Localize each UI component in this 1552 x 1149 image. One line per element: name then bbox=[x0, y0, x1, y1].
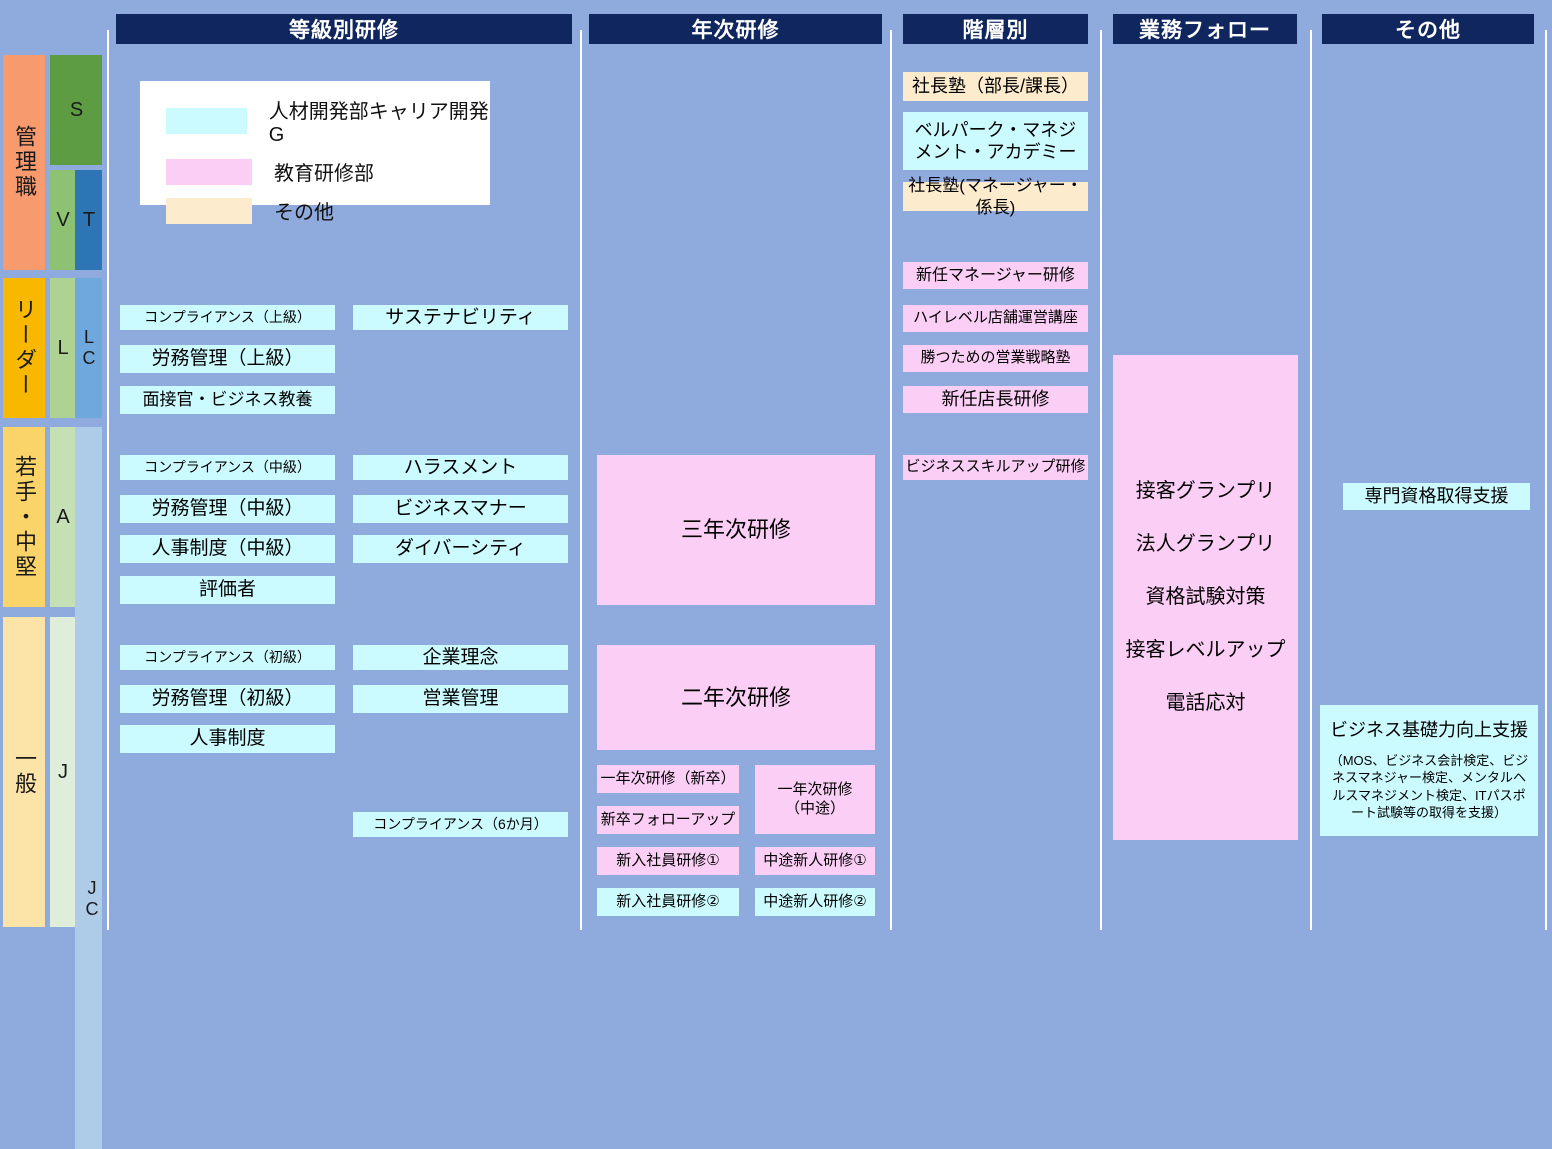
training-box[interactable]: 新卒フォローアップ bbox=[597, 806, 739, 834]
column-header-other: その他 bbox=[1322, 14, 1534, 44]
grade-band-s: S bbox=[50, 55, 102, 165]
grade-band-l: L bbox=[50, 278, 75, 418]
support-note: （MOS、ビジネス会計検定、ビジネスマネジャー検定、メンタルヘルスマネジメント検… bbox=[1328, 752, 1530, 822]
training-label: コンプライアンス（6か月） bbox=[373, 816, 548, 834]
training-box[interactable]: 中途新人研修② bbox=[755, 888, 875, 916]
training-label: 営業管理 bbox=[422, 687, 498, 711]
training-box[interactable]: ビジネスマナー bbox=[353, 495, 568, 523]
training-box[interactable]: コンプライアンス（6か月） bbox=[353, 812, 568, 837]
training-box[interactable]: コンプライアンス（初級） bbox=[120, 645, 335, 670]
column-header-annual-training: 年次研修 bbox=[589, 14, 882, 44]
training-box[interactable]: 人事制度 bbox=[120, 725, 335, 753]
training-box[interactable]: 労務管理（中級） bbox=[120, 495, 335, 523]
training-label: 労務管理（上級） bbox=[151, 347, 303, 371]
tier-label: 一般 bbox=[8, 747, 40, 797]
legend-item: 人材開発部キャリア開発G bbox=[166, 95, 490, 147]
tier-label: 若手・中堅 bbox=[8, 455, 40, 580]
training-box[interactable]: ハラスメント bbox=[353, 455, 568, 480]
column-title: 業務フォロー bbox=[1139, 14, 1271, 44]
training-label: 新卒フォローアップ bbox=[601, 811, 735, 830]
divider-col3-col4 bbox=[1100, 30, 1102, 930]
legend-swatch-cyan bbox=[166, 108, 247, 134]
training-label: 企業理念 bbox=[422, 646, 498, 670]
training-label: 面接官・ビジネス教養 bbox=[143, 389, 313, 410]
column-title: 階層別 bbox=[963, 14, 1029, 44]
grade-label: JC bbox=[81, 878, 102, 920]
training-label: 専門資格取得支援 bbox=[1365, 485, 1509, 508]
training-box[interactable]: 評価者 bbox=[120, 576, 335, 604]
column-header-grade-training: 等級別研修 bbox=[116, 14, 572, 44]
training-label: 人事制度（中級） bbox=[151, 537, 303, 561]
job-followup-line: 接客レベルアップ bbox=[1126, 638, 1286, 663]
legend-label: その他 bbox=[274, 196, 334, 225]
training-label: 中途新人研修① bbox=[763, 852, 866, 871]
training-label: 一年次研修 （中途） bbox=[777, 781, 852, 819]
training-label: ダイバーシティ bbox=[395, 537, 526, 561]
training-label: 勝つための営業戦略塾 bbox=[920, 349, 1070, 368]
training-box[interactable]: 一年次研修 （中途） bbox=[755, 765, 875, 834]
job-followup-box[interactable]: 接客グランプリ 法人グランプリ 資格試験対策 接客レベルアップ 電話応対 bbox=[1113, 355, 1298, 840]
tier-band-leader: リーダー bbox=[3, 278, 45, 418]
job-followup-line: 電話応対 bbox=[1166, 691, 1246, 716]
training-label: コンプライアンス（中級） bbox=[144, 459, 311, 477]
training-box[interactable]: 社長塾（部長/課長） bbox=[903, 72, 1088, 101]
training-box[interactable]: 労務管理（初級） bbox=[120, 685, 335, 713]
training-box[interactable]: 人事制度（中級） bbox=[120, 535, 335, 563]
grade-band-lc: LC bbox=[75, 278, 102, 418]
column-title: その他 bbox=[1395, 14, 1461, 44]
divider-sidebar bbox=[107, 30, 109, 930]
training-box[interactable]: 企業理念 bbox=[353, 645, 568, 670]
training-label: 新任マネージャー研修 bbox=[916, 266, 1075, 286]
column-header-job-followup: 業務フォロー bbox=[1113, 14, 1297, 44]
tier-band-management: 管理職 bbox=[3, 55, 45, 270]
grade-label: LC bbox=[78, 327, 99, 369]
training-box[interactable]: コンプライアンス（上級） bbox=[120, 305, 335, 330]
training-label: 新入社員研修① bbox=[616, 852, 719, 871]
training-box[interactable]: ビジネススキルアップ研修 bbox=[903, 455, 1088, 480]
grade-band-v: V bbox=[50, 170, 75, 270]
training-label: 労務管理（中級） bbox=[151, 497, 303, 521]
job-followup-line: 接客グランプリ bbox=[1136, 479, 1275, 504]
support-title: ビジネス基礎力向上支援 bbox=[1330, 719, 1528, 742]
job-followup-line: 資格試験対策 bbox=[1146, 585, 1266, 610]
training-label: 社長塾（部長/課長） bbox=[912, 75, 1079, 98]
training-box[interactable]: 専門資格取得支援 bbox=[1343, 483, 1530, 510]
training-box[interactable]: 一年次研修（新卒） bbox=[597, 765, 739, 793]
legend-swatch-pink bbox=[166, 159, 252, 185]
grade-band-a: A bbox=[50, 427, 75, 607]
divider-col2-col3 bbox=[890, 30, 892, 930]
training-label: 中途新人研修② bbox=[763, 893, 866, 912]
grade-label: T bbox=[77, 209, 100, 232]
grade-band-t: T bbox=[75, 170, 102, 270]
training-box[interactable]: 三年次研修 bbox=[597, 455, 875, 605]
job-followup-line: 法人グランプリ bbox=[1136, 532, 1275, 557]
training-label: 社長塾(マネージャー・係長) bbox=[903, 175, 1088, 218]
training-label: ハイレベル店舗運営講座 bbox=[913, 309, 1078, 328]
training-box[interactable]: 新入社員研修① bbox=[597, 847, 739, 875]
training-label: ビジネススキルアップ研修 bbox=[905, 458, 1085, 477]
training-box[interactable]: 新入社員研修② bbox=[597, 888, 739, 916]
training-box[interactable]: ハイレベル店舗運営講座 bbox=[903, 305, 1088, 332]
legend-label: 人材開発部キャリア開発G bbox=[269, 95, 490, 147]
training-label: 二年次研修 bbox=[681, 684, 791, 712]
tier-band-midcareer: 若手・中堅 bbox=[3, 427, 45, 607]
training-box[interactable]: サステナビリティ bbox=[353, 305, 568, 330]
training-label: コンプライアンス（上級） bbox=[144, 309, 311, 327]
training-label: 労務管理（初級） bbox=[151, 687, 303, 711]
legend-panel: 人材開発部キャリア開発G 教育研修部 その他 bbox=[140, 81, 490, 205]
training-label: コンプライアンス（初級） bbox=[144, 649, 311, 667]
training-box[interactable]: 新任マネージャー研修 bbox=[903, 262, 1088, 289]
tier-band-general: 一般 bbox=[3, 617, 45, 927]
training-box[interactable]: コンプライアンス（中級） bbox=[120, 455, 335, 480]
column-header-layered-training: 階層別 bbox=[903, 14, 1088, 44]
grade-label: V bbox=[51, 209, 74, 232]
training-box[interactable]: 二年次研修 bbox=[597, 645, 875, 750]
training-box[interactable]: 営業管理 bbox=[353, 685, 568, 713]
column-title: 等級別研修 bbox=[289, 14, 399, 44]
grade-label: A bbox=[51, 506, 74, 529]
legend-item: 教育研修部 bbox=[166, 157, 490, 186]
training-label: 評価者 bbox=[199, 578, 256, 602]
training-label: 一年次研修（新卒） bbox=[600, 770, 735, 789]
training-matrix-diagram: 管理職 リーダー 若手・中堅 一般 S V T L LC A JC J bbox=[0, 0, 1552, 932]
training-box[interactable]: 面接官・ビジネス教養 bbox=[120, 386, 335, 414]
training-label: 人事制度 bbox=[189, 727, 265, 751]
grade-label: L bbox=[51, 337, 74, 360]
tier-label: 管理職 bbox=[8, 125, 40, 200]
training-box[interactable]: ダイバーシティ bbox=[353, 535, 568, 563]
training-box[interactable]: 中途新人研修① bbox=[755, 847, 875, 875]
grade-band-jc: JC bbox=[75, 427, 102, 1149]
training-label: ハラスメント bbox=[404, 456, 518, 480]
tier-label: リーダー bbox=[8, 298, 40, 398]
column-title: 年次研修 bbox=[692, 14, 780, 44]
legend-swatch-cream bbox=[166, 198, 252, 224]
grade-label: J bbox=[51, 761, 74, 784]
training-label: サステナビリティ bbox=[385, 306, 535, 330]
legend-label: 教育研修部 bbox=[274, 157, 374, 186]
training-label: 新任店長研修 bbox=[942, 388, 1050, 411]
divider-col4-col5 bbox=[1310, 30, 1312, 930]
training-label: ビジネスマナー bbox=[394, 497, 526, 521]
training-box[interactable]: 労務管理（上級） bbox=[120, 345, 335, 373]
training-box[interactable]: 社長塾(マネージャー・係長) bbox=[903, 182, 1088, 211]
grade-band-j: J bbox=[50, 617, 75, 927]
divider-col1-col2 bbox=[580, 30, 582, 930]
training-label: 新入社員研修② bbox=[616, 893, 719, 912]
training-label: 三年次研修 bbox=[681, 516, 791, 544]
training-box[interactable]: ベルパーク・マネジ メント・アカデミー bbox=[903, 112, 1088, 170]
legend-item: その他 bbox=[166, 196, 490, 225]
divider-right-edge bbox=[1545, 30, 1547, 930]
training-box[interactable]: 勝つための営業戦略塾 bbox=[903, 345, 1088, 372]
training-box[interactable]: 新任店長研修 bbox=[903, 386, 1088, 413]
grade-label: S bbox=[65, 99, 88, 122]
training-label: ベルパーク・マネジ メント・アカデミー bbox=[915, 119, 1077, 164]
business-basics-support-box[interactable]: ビジネス基礎力向上支援 （MOS、ビジネス会計検定、ビジネスマネジャー検定、メン… bbox=[1320, 705, 1538, 836]
